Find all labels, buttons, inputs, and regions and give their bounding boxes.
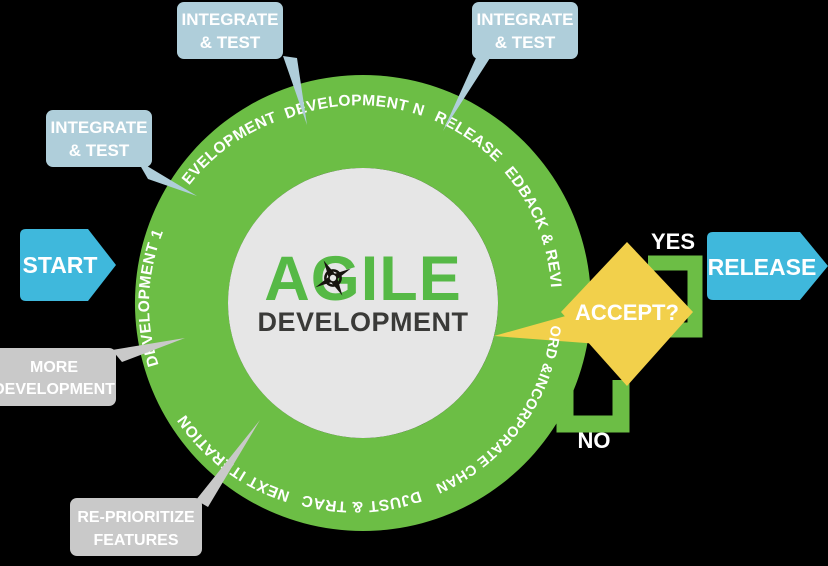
branch-label-yes: YES bbox=[651, 229, 695, 254]
callout-line-2: DEVELOPMENT bbox=[0, 381, 115, 398]
callout-line-1: RE-PRIORITIZE bbox=[77, 509, 195, 526]
callout-line-2: FEATURES bbox=[93, 532, 178, 549]
callout-line-1: INTEGRATE bbox=[51, 118, 148, 137]
start-node[interactable]: START bbox=[20, 229, 116, 301]
callout-integrate-test-left[interactable]: INTEGRATE & TEST bbox=[46, 110, 152, 167]
callout-line-1: INTEGRATE bbox=[182, 10, 279, 29]
agile-logo: AGILE DEVELOPMENT bbox=[257, 244, 468, 337]
branch-label-no: NO bbox=[578, 428, 611, 453]
callout-re-prioritize-features[interactable]: RE-PRIORITIZE FEATURES bbox=[70, 498, 202, 556]
logo-agile: AGILE bbox=[264, 244, 462, 314]
release-label: RELEASE bbox=[708, 254, 817, 280]
callout-integrate-test-right[interactable]: INTEGRATE & TEST bbox=[472, 2, 578, 59]
callout-line-2: & TEST bbox=[495, 33, 556, 52]
callout-line-2: & TEST bbox=[69, 141, 130, 160]
callout-line-1: MORE bbox=[30, 359, 78, 376]
callout-integrate-test-top[interactable]: INTEGRATE & TEST bbox=[177, 2, 283, 59]
callout-line-2: & TEST bbox=[200, 33, 261, 52]
agile-development-diagram: DEVELOPMENT 1 DEVELOPMENT 2 DEVELOPMENT … bbox=[0, 0, 828, 566]
logo-subtitle: DEVELOPMENT bbox=[257, 307, 468, 337]
callout-more-development[interactable]: MORE DEVELOPMENT bbox=[0, 348, 116, 406]
release-node[interactable]: RELEASE bbox=[707, 232, 828, 300]
diagram-canvas: DEVELOPMENT 1 DEVELOPMENT 2 DEVELOPMENT … bbox=[0, 0, 828, 566]
start-label: START bbox=[23, 252, 98, 278]
callout-line-1: INTEGRATE bbox=[477, 10, 574, 29]
accept-label: ACCEPT? bbox=[575, 300, 679, 325]
